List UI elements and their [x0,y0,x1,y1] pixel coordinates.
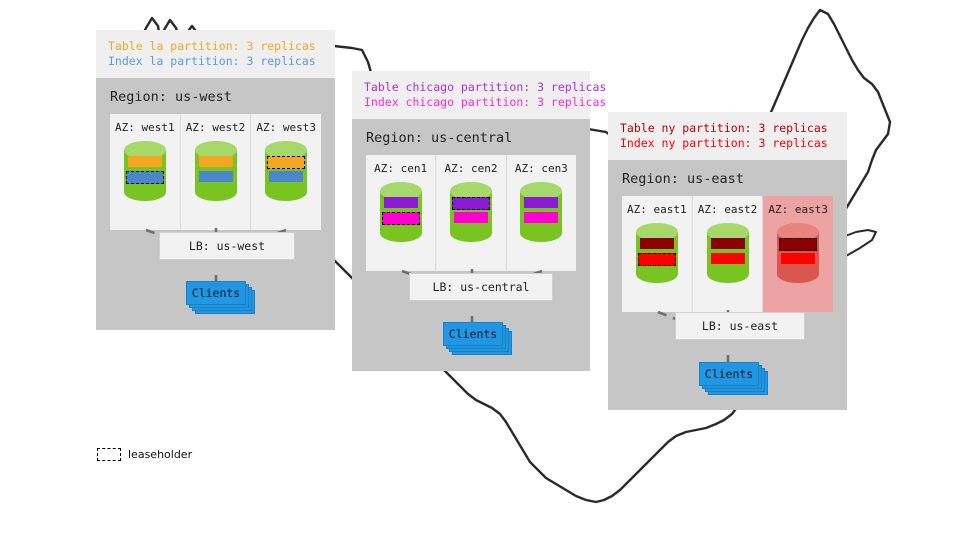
az-cell-cen3[interactable]: AZ: cen3 [507,155,576,271]
az-cell-east3-failed[interactable]: AZ: east3 [763,196,833,312]
table-replica-bar-leaseholder [779,238,817,251]
lb-label: LB: us-east [702,319,778,333]
az-cell-east1[interactable]: AZ: east1 [622,196,693,312]
table-partition-line: Table chicago partition: 3 replicas [364,80,578,95]
az-cell-east2[interactable]: AZ: east2 [693,196,764,312]
region-title: Region: us-west [96,78,335,114]
clients-stack-us-west[interactable]: Clients [186,281,256,315]
partition-header-us-west: Table la partition: 3 replicas Index la … [96,30,335,78]
lb-label: LB: us-central [433,280,530,294]
table-partition-line: Table la partition: 3 replicas [108,39,323,54]
clients-label: Clients [705,367,753,381]
table-replica-bar [524,197,558,208]
index-partition-line: Index la partition: 3 replicas [108,54,323,69]
clients-box[interactable]: Clients [443,322,503,346]
index-replica-bar-leaseholder [126,171,164,184]
az-label: AZ: west2 [186,121,246,134]
table-partition-line: Table ny partition: 3 replicas [620,121,835,136]
clients-box[interactable]: Clients [699,362,759,386]
legend-label: leaseholder [128,448,192,461]
index-replica-bar [781,253,815,264]
az-cell-cen1[interactable]: AZ: cen1 [366,155,436,271]
partition-header-us-central: Table chicago partition: 3 replicas Inde… [352,71,590,119]
legend: leaseholder [97,448,192,461]
node-cylinder-west3[interactable] [263,140,309,202]
dashed-box-icon [97,448,121,461]
index-partition-line: Index chicago partition: 3 replicas [364,95,578,110]
index-replica-bar [524,212,558,223]
node-cylinder-cen1[interactable] [378,181,424,243]
lb-box-us-east[interactable]: LB: us-east [675,312,805,340]
az-strip-us-west: AZ: west1 AZ: west2 [110,114,321,230]
node-cylinder-cen3[interactable] [518,181,564,243]
az-cell-west1[interactable]: AZ: west1 [110,114,181,230]
az-label: AZ: east3 [768,203,828,216]
region-title: Region: us-central [352,119,590,155]
az-cell-west3[interactable]: AZ: west3 [251,114,321,230]
node-cylinder-east2[interactable] [705,222,751,284]
node-cylinder-west2[interactable] [193,140,239,202]
lb-box-us-central[interactable]: LB: us-central [409,273,553,301]
az-label: AZ: east2 [698,203,758,216]
az-label: AZ: west3 [256,121,316,134]
node-cylinder-east3-failed[interactable] [775,222,821,284]
node-cylinder-west1[interactable] [122,140,168,202]
index-replica-bar-leaseholder [382,212,420,225]
az-cell-cen2[interactable]: AZ: cen2 [436,155,506,271]
table-replica-bar [128,156,162,167]
node-cylinder-east1[interactable] [634,222,680,284]
table-replica-bar-leaseholder [452,197,490,210]
table-replica-bar-leaseholder [267,156,305,169]
table-replica-bar [384,197,418,208]
az-label: AZ: cen2 [445,162,498,175]
clients-box[interactable]: Clients [186,281,246,305]
lb-box-us-west[interactable]: LB: us-west [159,232,295,260]
az-label: AZ: west1 [115,121,175,134]
clients-label: Clients [449,327,497,341]
az-label: AZ: east1 [627,203,687,216]
az-label: AZ: cen1 [374,162,427,175]
index-replica-bar-leaseholder [638,253,676,266]
az-strip-us-central: AZ: cen1 AZ: cen2 [366,155,576,271]
clients-stack-us-east[interactable]: Clients [699,362,769,396]
table-replica-bar [640,238,674,249]
index-replica-bar [711,253,745,264]
partition-header-us-east: Table ny partition: 3 replicas Index ny … [608,112,847,160]
clients-stack-us-central[interactable]: Clients [443,322,513,356]
az-cell-west2[interactable]: AZ: west2 [181,114,252,230]
lb-label: LB: us-west [189,239,265,253]
index-partition-line: Index ny partition: 3 replicas [620,136,835,151]
index-replica-bar [454,212,488,223]
clients-label: Clients [192,286,240,300]
table-replica-bar [199,156,233,167]
az-label: AZ: cen3 [515,162,568,175]
az-strip-us-east: AZ: east1 AZ: east2 [622,196,833,312]
node-cylinder-cen2[interactable] [448,181,494,243]
index-replica-bar [199,171,233,182]
region-title: Region: us-east [608,160,847,196]
table-replica-bar [711,238,745,249]
index-replica-bar [269,171,303,182]
